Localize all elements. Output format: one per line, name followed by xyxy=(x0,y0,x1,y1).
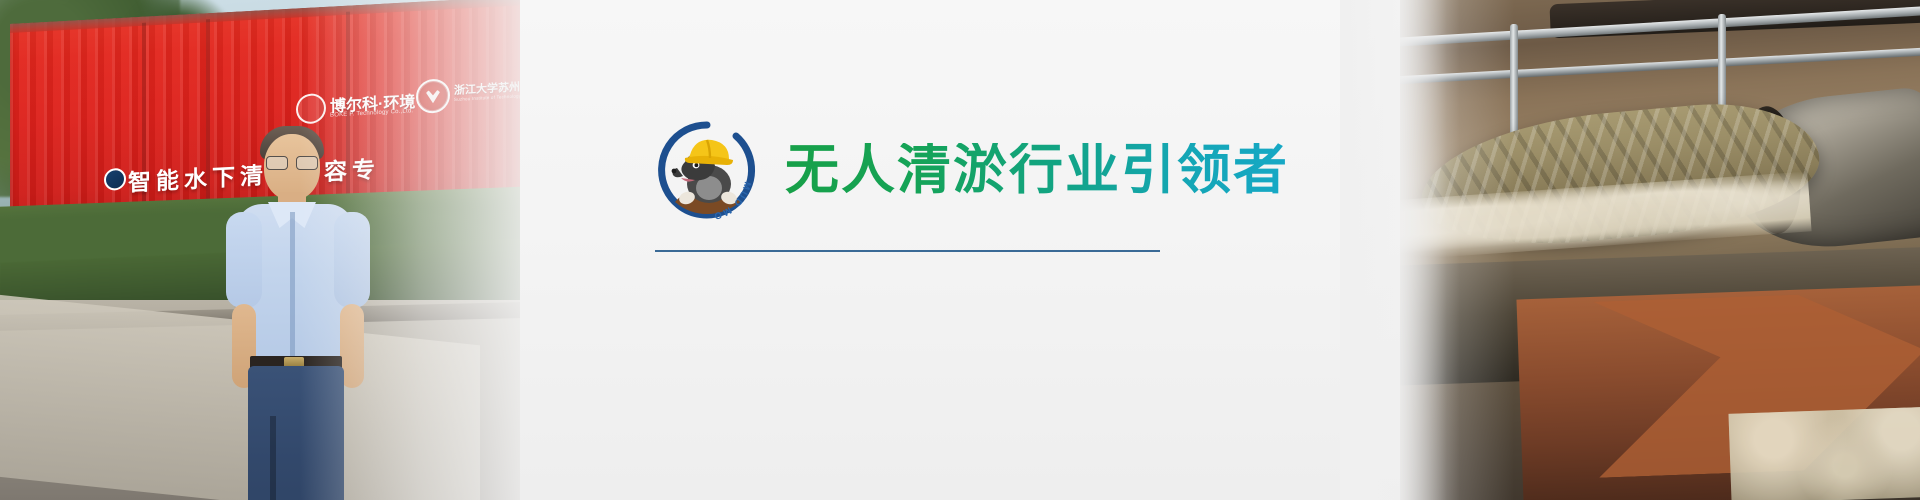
shirt-placket xyxy=(290,212,295,362)
jeans xyxy=(248,366,344,500)
eyeglasses xyxy=(266,156,318,168)
right-photo-group xyxy=(1400,0,1920,500)
leg-separation xyxy=(270,416,276,500)
handrail-post xyxy=(1510,24,1518,139)
headline-block: MUD MOLE 无人清淤行业引领者 xyxy=(655,118,1355,222)
hero-banner: 博尔科·环境 BOKE P. Technology Co.,Ltd. 浙江大学苏… xyxy=(0,0,1920,500)
headline-text: 无人清淤行业引领者 xyxy=(785,143,1289,197)
center-panel: MUD MOLE 无人清淤行业引领者 xyxy=(520,0,1400,500)
left-sleeve xyxy=(226,212,262,308)
right-sleeve xyxy=(334,212,370,308)
headline-divider xyxy=(655,250,1160,252)
executive-figure xyxy=(222,116,372,500)
mud-mole-logo: MUD MOLE xyxy=(655,118,759,222)
gravel-bank xyxy=(1728,406,1920,500)
left-photo: 博尔科·环境 BOKE P. Technology Co.,Ltd. 浙江大学苏… xyxy=(0,0,560,500)
